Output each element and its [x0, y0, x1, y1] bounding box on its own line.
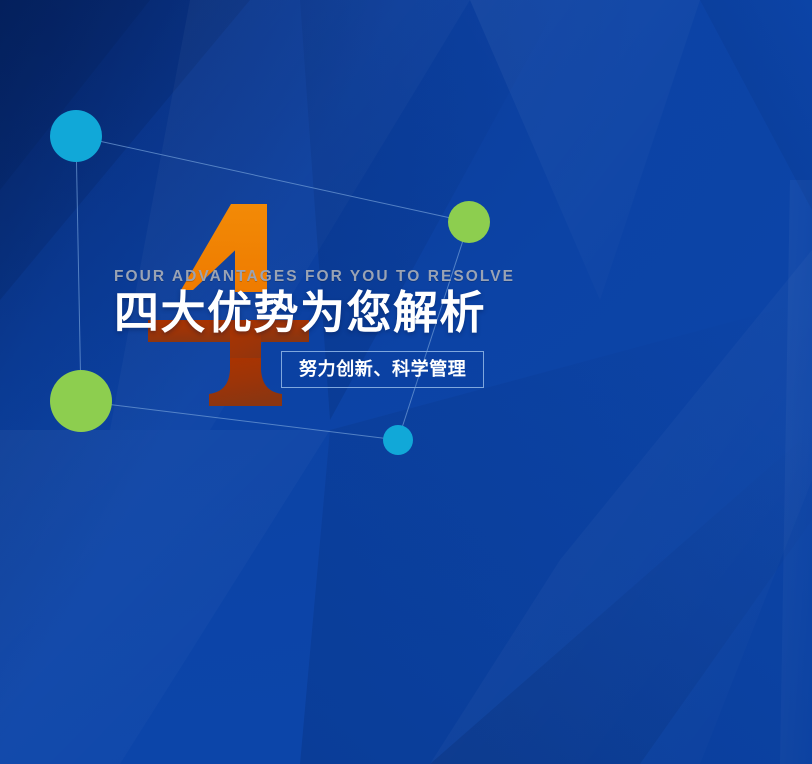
banner-copy: FOUR ADVANTAGES FOR YOU TO RESOLVE 四大优势为… [114, 268, 734, 338]
banner-badge: 努力创新、科学管理 [281, 351, 484, 388]
banner-headline: 四大优势为您解析 [114, 288, 734, 338]
banner-badge-row: 努力创新、科学管理 [281, 351, 484, 388]
hero-banner: FOUR ADVANTAGES FOR YOU TO RESOLVE 四大优势为… [0, 0, 812, 764]
banner-kicker: FOUR ADVANTAGES FOR YOU TO RESOLVE [114, 268, 734, 285]
